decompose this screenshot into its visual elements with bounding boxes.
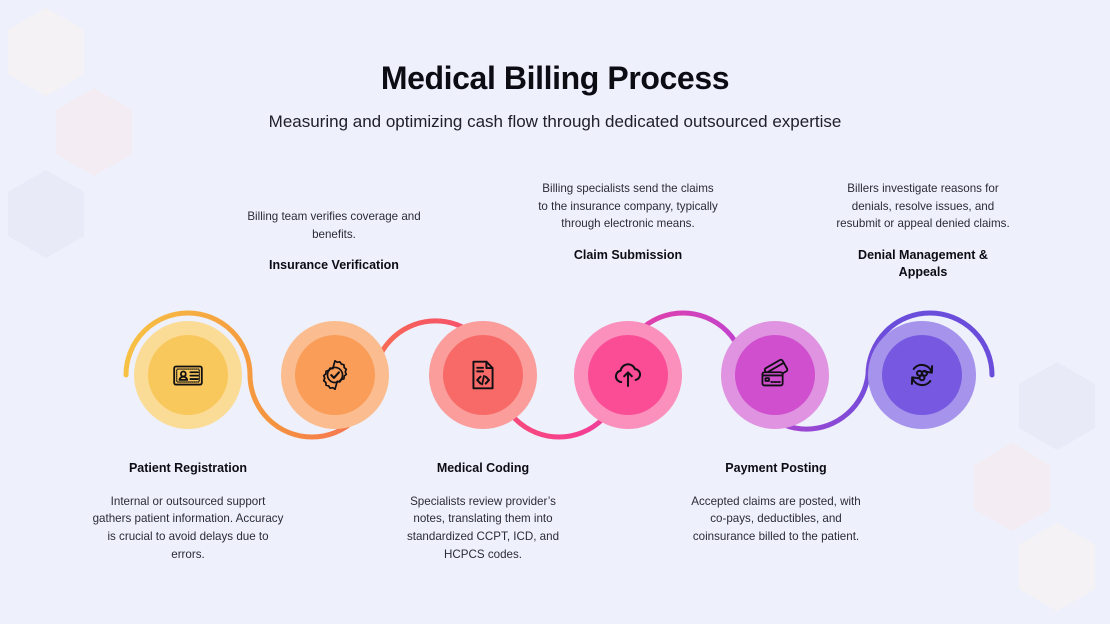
cloud-upload-icon (611, 358, 645, 392)
step-text-claim-submission: Billing specialists send the claims to t… (538, 180, 718, 264)
step-title: Claim Submission (538, 247, 718, 264)
infographic-canvas: Medical Billing Process Measuring and op… (0, 0, 1110, 624)
refresh-cycle-icon (905, 358, 939, 392)
step-core (148, 335, 228, 415)
step-description: Billers investigate reasons for denials,… (833, 180, 1013, 233)
code-document-icon (466, 358, 500, 392)
step-description: Billing specialists send the claims to t… (538, 180, 718, 233)
step-core (295, 335, 375, 415)
step-title: Payment Posting (688, 460, 864, 477)
step-core (882, 335, 962, 415)
step-description: Accepted claims are posted, with co-pays… (688, 493, 864, 546)
step-core (443, 335, 523, 415)
page-title: Medical Billing Process (0, 0, 1110, 97)
credit-cards-icon (758, 358, 792, 392)
step-description: Billing team verifies coverage and benef… (246, 208, 422, 243)
step-description: Internal or outsourced support gathers p… (90, 493, 286, 563)
header: Medical Billing Process Measuring and op… (0, 0, 1110, 133)
step-title: Insurance Verification (246, 257, 422, 274)
step-text-denial-management: Billers investigate reasons for denials,… (833, 180, 1013, 281)
id-card-icon (171, 358, 205, 392)
step-description: Specialists review provider’s notes, tra… (395, 493, 571, 563)
verified-badge-icon (318, 358, 352, 392)
step-text-medical-coding: Medical Coding Specialists review provid… (395, 460, 571, 563)
step-text-insurance-verification: Billing team verifies coverage and benef… (246, 208, 422, 274)
page-subtitle: Measuring and optimizing cash flow throu… (0, 97, 1110, 133)
step-text-patient-registration: Patient Registration Internal or outsour… (90, 460, 286, 563)
step-title: Patient Registration (90, 460, 286, 477)
step-title: Denial Management & Appeals (833, 247, 1013, 281)
step-text-payment-posting: Payment Posting Accepted claims are post… (688, 460, 864, 546)
step-core (735, 335, 815, 415)
step-core (588, 335, 668, 415)
step-title: Medical Coding (395, 460, 571, 477)
